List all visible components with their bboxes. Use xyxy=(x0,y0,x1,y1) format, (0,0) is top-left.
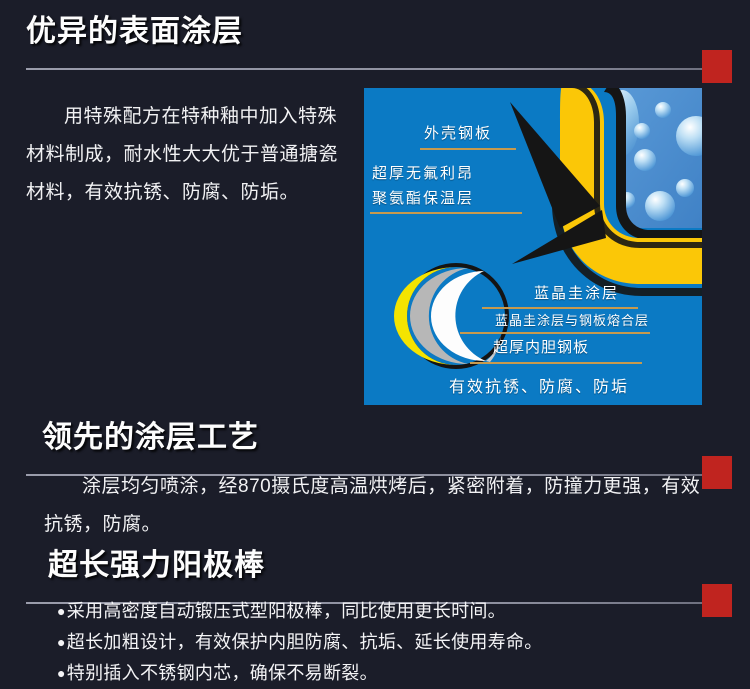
accent-square xyxy=(702,584,732,617)
section-title-anode-rod: 超长强力阳极棒 xyxy=(48,540,750,584)
anode-feature-list: ●采用高密度自动锻压式型阳极棒，同比使用更长时间。●超长加粗设计，有效保护内胆防… xyxy=(57,596,543,689)
label-underline-shell xyxy=(420,148,516,150)
section-coating-process: 领先的涂层工艺 涂层均匀喷涂，经870摄氏度高温烘烤后，紧密附着，防撞力更强，有… xyxy=(0,412,750,482)
paragraph-surface-coating: 用特殊配方在特种釉中加入特殊材料制成，耐水性大大优于普通搪瓷材料，有效抗锈、防腐… xyxy=(26,98,348,212)
section-anode-rod: 超长强力阳极棒 ●采用高密度自动锻压式型阳极棒，同比使用更长时间。●超长加粗设计… xyxy=(0,540,750,610)
bullet-dot-icon: ● xyxy=(57,603,66,619)
list-item-label: 特别插入不锈钢内芯，确保不易断裂。 xyxy=(67,663,378,683)
label-underline-inner-plate xyxy=(470,362,642,364)
label-underline-insulation xyxy=(370,212,522,214)
label-underline-coating xyxy=(482,307,638,309)
divider-line xyxy=(26,68,702,70)
diagram-bottom-caption: 有效抗锈、防腐、防垢 xyxy=(449,373,629,397)
paragraph-coating-process: 涂层均匀喷涂，经870摄氏度高温烘烤后，紧密附着，防撞力更强，有效抗锈，防腐。 xyxy=(44,468,704,544)
diagram-artwork xyxy=(364,88,702,405)
accent-square xyxy=(702,50,732,83)
list-item: ●采用高密度自动锻压式型阳极棒，同比使用更长时间。 xyxy=(57,596,543,627)
list-item-label: 超长加粗设计，有效保护内胆防腐、抗垢、延长使用寿命。 xyxy=(67,632,543,652)
section-surface-coating: 优异的表面涂层 用特殊配方在特种釉中加入特殊材料制成，耐水性大大优于普通搪瓷材料… xyxy=(0,6,750,76)
label-underline-fusion xyxy=(460,332,650,334)
bullet-dot-icon: ● xyxy=(57,634,66,650)
list-item: ●特别插入不锈钢内芯，确保不易断裂。 xyxy=(57,658,543,689)
section-divider-surface xyxy=(0,62,750,76)
tank-cross-section-diagram: 外壳钢板 超厚无氟利昂 聚氨酯保温层 蓝晶圭涂层 蓝晶圭涂层与钢板熔合层 超厚内… xyxy=(364,88,702,405)
section-title-coating-process: 领先的涂层工艺 xyxy=(42,412,750,456)
section-title-surface-coating: 优异的表面涂层 xyxy=(26,6,750,50)
accent-square xyxy=(702,456,732,489)
bullet-dot-icon: ● xyxy=(57,665,66,681)
label-insulation-line1: 超厚无氟利昂 xyxy=(372,162,474,183)
label-shell-steel-plate: 外壳钢板 xyxy=(424,122,492,143)
label-blue-crystal-coating: 蓝晶圭涂层 xyxy=(534,282,619,303)
list-item: ●超长加粗设计，有效保护内胆防腐、抗垢、延长使用寿命。 xyxy=(57,627,543,658)
list-item-label: 采用高密度自动锻压式型阳极棒，同比使用更长时间。 xyxy=(67,601,506,621)
label-fusion-layer: 蓝晶圭涂层与钢板熔合层 xyxy=(495,310,649,329)
label-insulation-line2: 聚氨酯保温层 xyxy=(372,187,474,208)
label-inner-steel-plate: 超厚内胆钢板 xyxy=(493,336,589,357)
